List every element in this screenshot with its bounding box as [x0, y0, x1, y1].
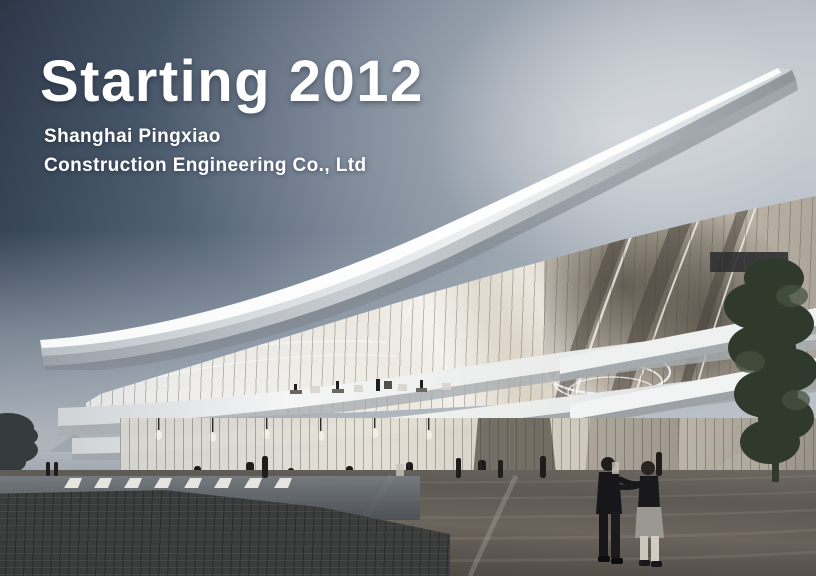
company-line-1: Shanghai Pingxiao: [44, 123, 560, 152]
title-text-block: Starting 2012 Shanghai Pingxiao Construc…: [40, 52, 560, 181]
company-name: Shanghai Pingxiao Construction Engineeri…: [44, 123, 560, 181]
page-title: Starting 2012: [40, 52, 560, 113]
mezzanine-figures: [280, 372, 480, 398]
title-slide: Starting 2012 Shanghai Pingxiao Construc…: [0, 0, 816, 576]
company-line-2: Construction Engineering Co., Ltd: [44, 152, 560, 181]
pedestrian-figures: [0, 440, 816, 520]
